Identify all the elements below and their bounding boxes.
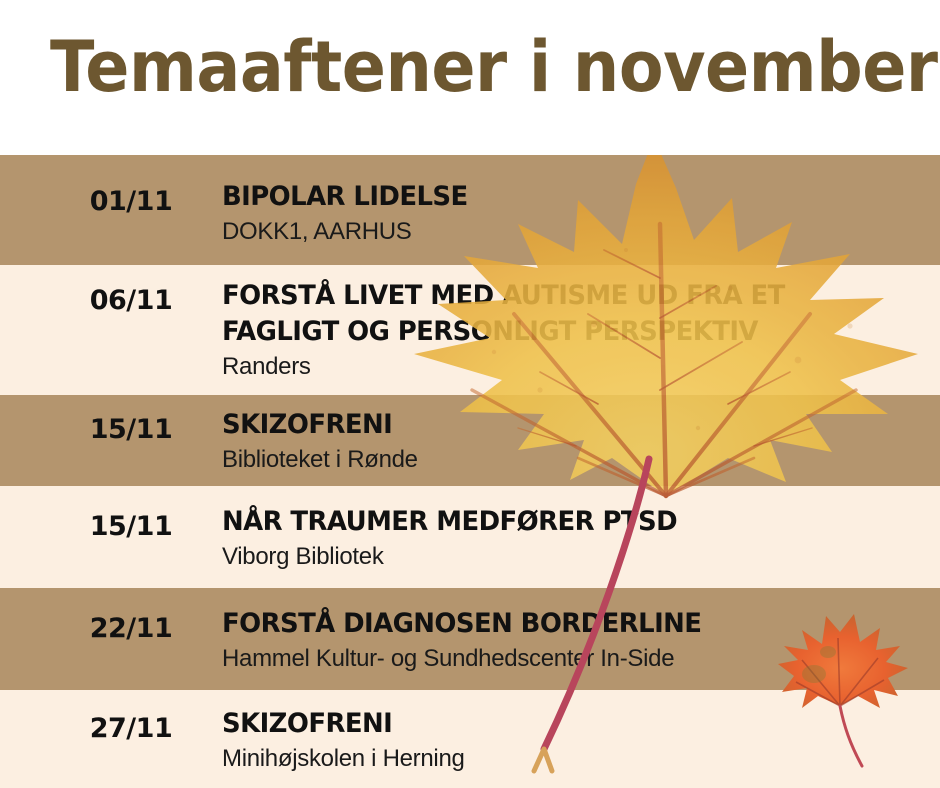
poster-canvas: 01/11 BIPOLAR LIDELSE DOKK1, AARHUS 06/1… [0,0,940,788]
event-venue: Hammel Kultur- og Sundhedscenter In-Side [222,643,930,675]
event-body: SKIZOFRENI Biblioteket i Rønde [222,407,930,476]
event-title: SKIZOFRENI [222,706,902,742]
event-body: FORSTÅ LIVET MED AUTISME UD FRA ET FAGLI… [222,278,930,383]
event-body: BIPOLAR LIDELSE DOKK1, AARHUS [222,179,930,248]
event-date: 01/11 [56,186,206,217]
event-venue: Viborg Bibliotek [222,541,930,573]
event-venue: Biblioteket i Rønde [222,444,930,476]
event-title-line1: FORSTÅ DIAGNOSEN BORDERLINE [222,608,701,639]
event-row[interactable]: 06/11 FORSTÅ LIVET MED AUTISME UD FRA ET… [0,265,940,395]
event-body: SKIZOFRENI Minihøjskolen i Herning [222,706,930,775]
event-row[interactable]: 22/11 FORSTÅ DIAGNOSEN BORDERLINE Hammel… [0,588,940,690]
event-title: SKIZOFRENI [222,407,902,443]
page-title: Temaaftener i november [50,26,938,108]
event-title-line1: SKIZOFRENI [222,708,392,739]
event-date: 15/11 [56,511,206,542]
event-row[interactable]: 27/11 SKIZOFRENI Minihøjskolen i Herning [0,690,940,788]
event-body: FORSTÅ DIAGNOSEN BORDERLINE Hammel Kultu… [222,606,930,675]
event-date: 22/11 [56,613,206,644]
event-title: FORSTÅ LIVET MED AUTISME UD FRA ET FAGLI… [222,278,902,350]
event-title-line1: BIPOLAR LIDELSE [222,181,468,212]
event-venue: Randers [222,351,930,383]
event-body: NÅR TRAUMER MEDFØRER PTSD Viborg Bibliot… [222,504,930,573]
event-row[interactable]: 15/11 NÅR TRAUMER MEDFØRER PTSD Viborg B… [0,486,940,588]
event-venue: DOKK1, AARHUS [222,216,930,248]
event-venue: Minihøjskolen i Herning [222,743,930,775]
event-date: 06/11 [56,285,206,316]
event-row[interactable]: 01/11 BIPOLAR LIDELSE DOKK1, AARHUS [0,155,940,265]
event-title-line1: FORSTÅ LIVET MED AUTISME UD FRA ET [222,280,785,311]
event-title-line1: NÅR TRAUMER MEDFØRER PTSD [222,506,677,537]
event-title-line2: FAGLIGT OG PERSONLIGT PERSPEKTIV [222,314,902,350]
header-band: Temaaftener i november [0,0,940,155]
event-date: 15/11 [56,414,206,445]
event-row[interactable]: 15/11 SKIZOFRENI Biblioteket i Rønde [0,395,940,486]
event-date: 27/11 [56,713,206,744]
event-title: BIPOLAR LIDELSE [222,179,902,215]
event-title-line1: SKIZOFRENI [222,409,392,440]
event-title: FORSTÅ DIAGNOSEN BORDERLINE [222,606,902,642]
event-title: NÅR TRAUMER MEDFØRER PTSD [222,504,902,540]
